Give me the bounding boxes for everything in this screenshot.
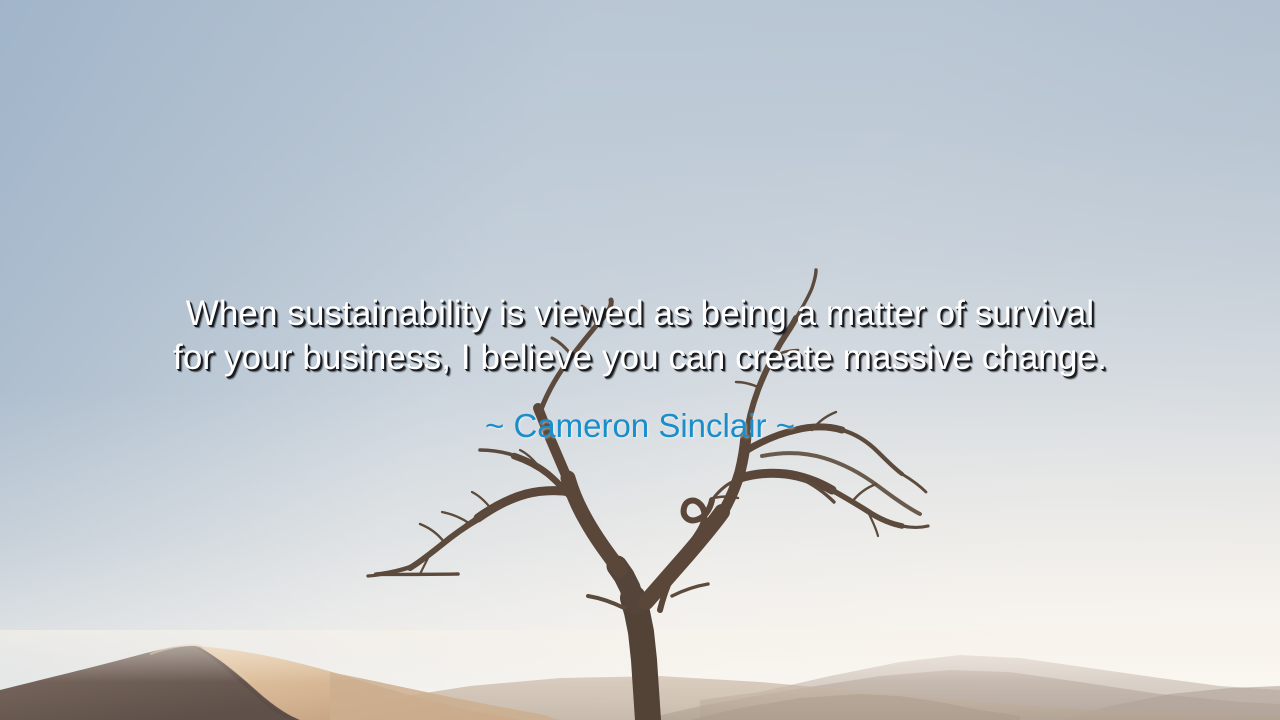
- tree-branch-left-twig-a: [420, 524, 444, 542]
- tree-branch-right-twig-a: [852, 484, 876, 502]
- tree-branch-right-top-tip: [796, 270, 816, 318]
- tree-branch-left-tip-a3: [582, 306, 596, 324]
- tree-branch-structure: [368, 270, 928, 720]
- tree-branch-lower-right: [672, 584, 708, 596]
- tree-branch-lower-left: [588, 596, 624, 608]
- tree-branch-left-mid-tip: [480, 450, 516, 456]
- tree-branch-left-twig-d: [472, 492, 492, 510]
- tree-limb-left-side: [478, 491, 572, 518]
- tree-branch-right-arm-upper-tip2: [902, 474, 926, 492]
- tree-branch-right-far: [762, 453, 920, 514]
- tree-branch-left-side-b: [460, 506, 500, 530]
- tree-branch-left-twig-c: [442, 512, 470, 524]
- tree-branch-right-side-tip: [902, 526, 928, 528]
- tree-branch-right-top-twig2: [736, 382, 760, 388]
- quote-image-canvas: When sustainability is viewed as being a…: [0, 0, 1280, 720]
- tree-limb-right-arm-upper: [744, 427, 842, 452]
- tree-trunk: [633, 598, 648, 720]
- tree-limb-right-main: [646, 512, 722, 602]
- tree-branch-left-tip-a: [540, 300, 611, 412]
- dead-acacia-tree: [0, 0, 1280, 720]
- tree-branch-right-top: [746, 318, 796, 438]
